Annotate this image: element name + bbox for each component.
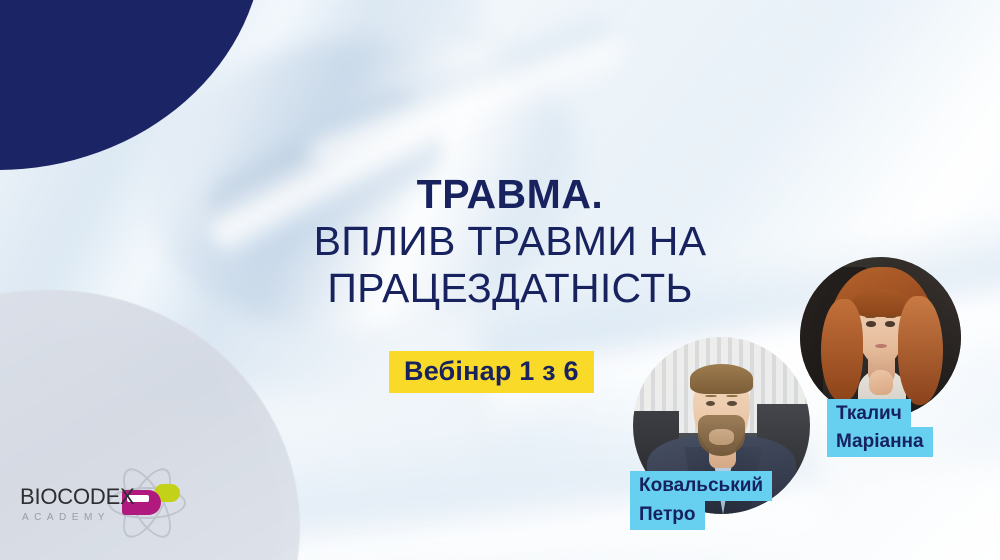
- title-line-3: ПРАЦЕЗДАТНІСТЬ: [250, 265, 770, 313]
- title-line-1: ТРАВМА.: [250, 172, 770, 218]
- page-title: ТРАВМА. ВПЛИВ ТРАВМИ НА ПРАЦЕЗДАТНІСТЬ: [250, 172, 770, 313]
- speaker-female-first-name: Маріанна: [827, 427, 933, 457]
- portrait-female-speaker: [800, 257, 961, 418]
- webinar-title-slide: ТРАВМА. ВПЛИВ ТРАВМИ НА ПРАЦЕЗДАТНІСТЬ В…: [0, 0, 1000, 560]
- logo-name: BIOCODEX: [20, 486, 150, 508]
- title-line-2: ВПЛИВ ТРАВМИ НА: [250, 218, 770, 266]
- speaker-male-first-name: Петро: [630, 500, 705, 530]
- speaker-female-last-name: Ткалич: [827, 399, 911, 429]
- webinar-number-badge: Вебінар 1 з 6: [389, 351, 594, 393]
- biocodex-academy-logo: BIOCODEX ACADEMY: [18, 462, 203, 542]
- avatar-female: [800, 257, 961, 418]
- speaker-male-last-name: Ковальський: [630, 471, 772, 501]
- logo-subtitle: ACADEMY: [22, 513, 150, 523]
- webinar-number-badge-label: Вебінар 1 з 6: [404, 357, 579, 385]
- logo-wordmark: BIOCODEX ACADEMY: [20, 486, 150, 523]
